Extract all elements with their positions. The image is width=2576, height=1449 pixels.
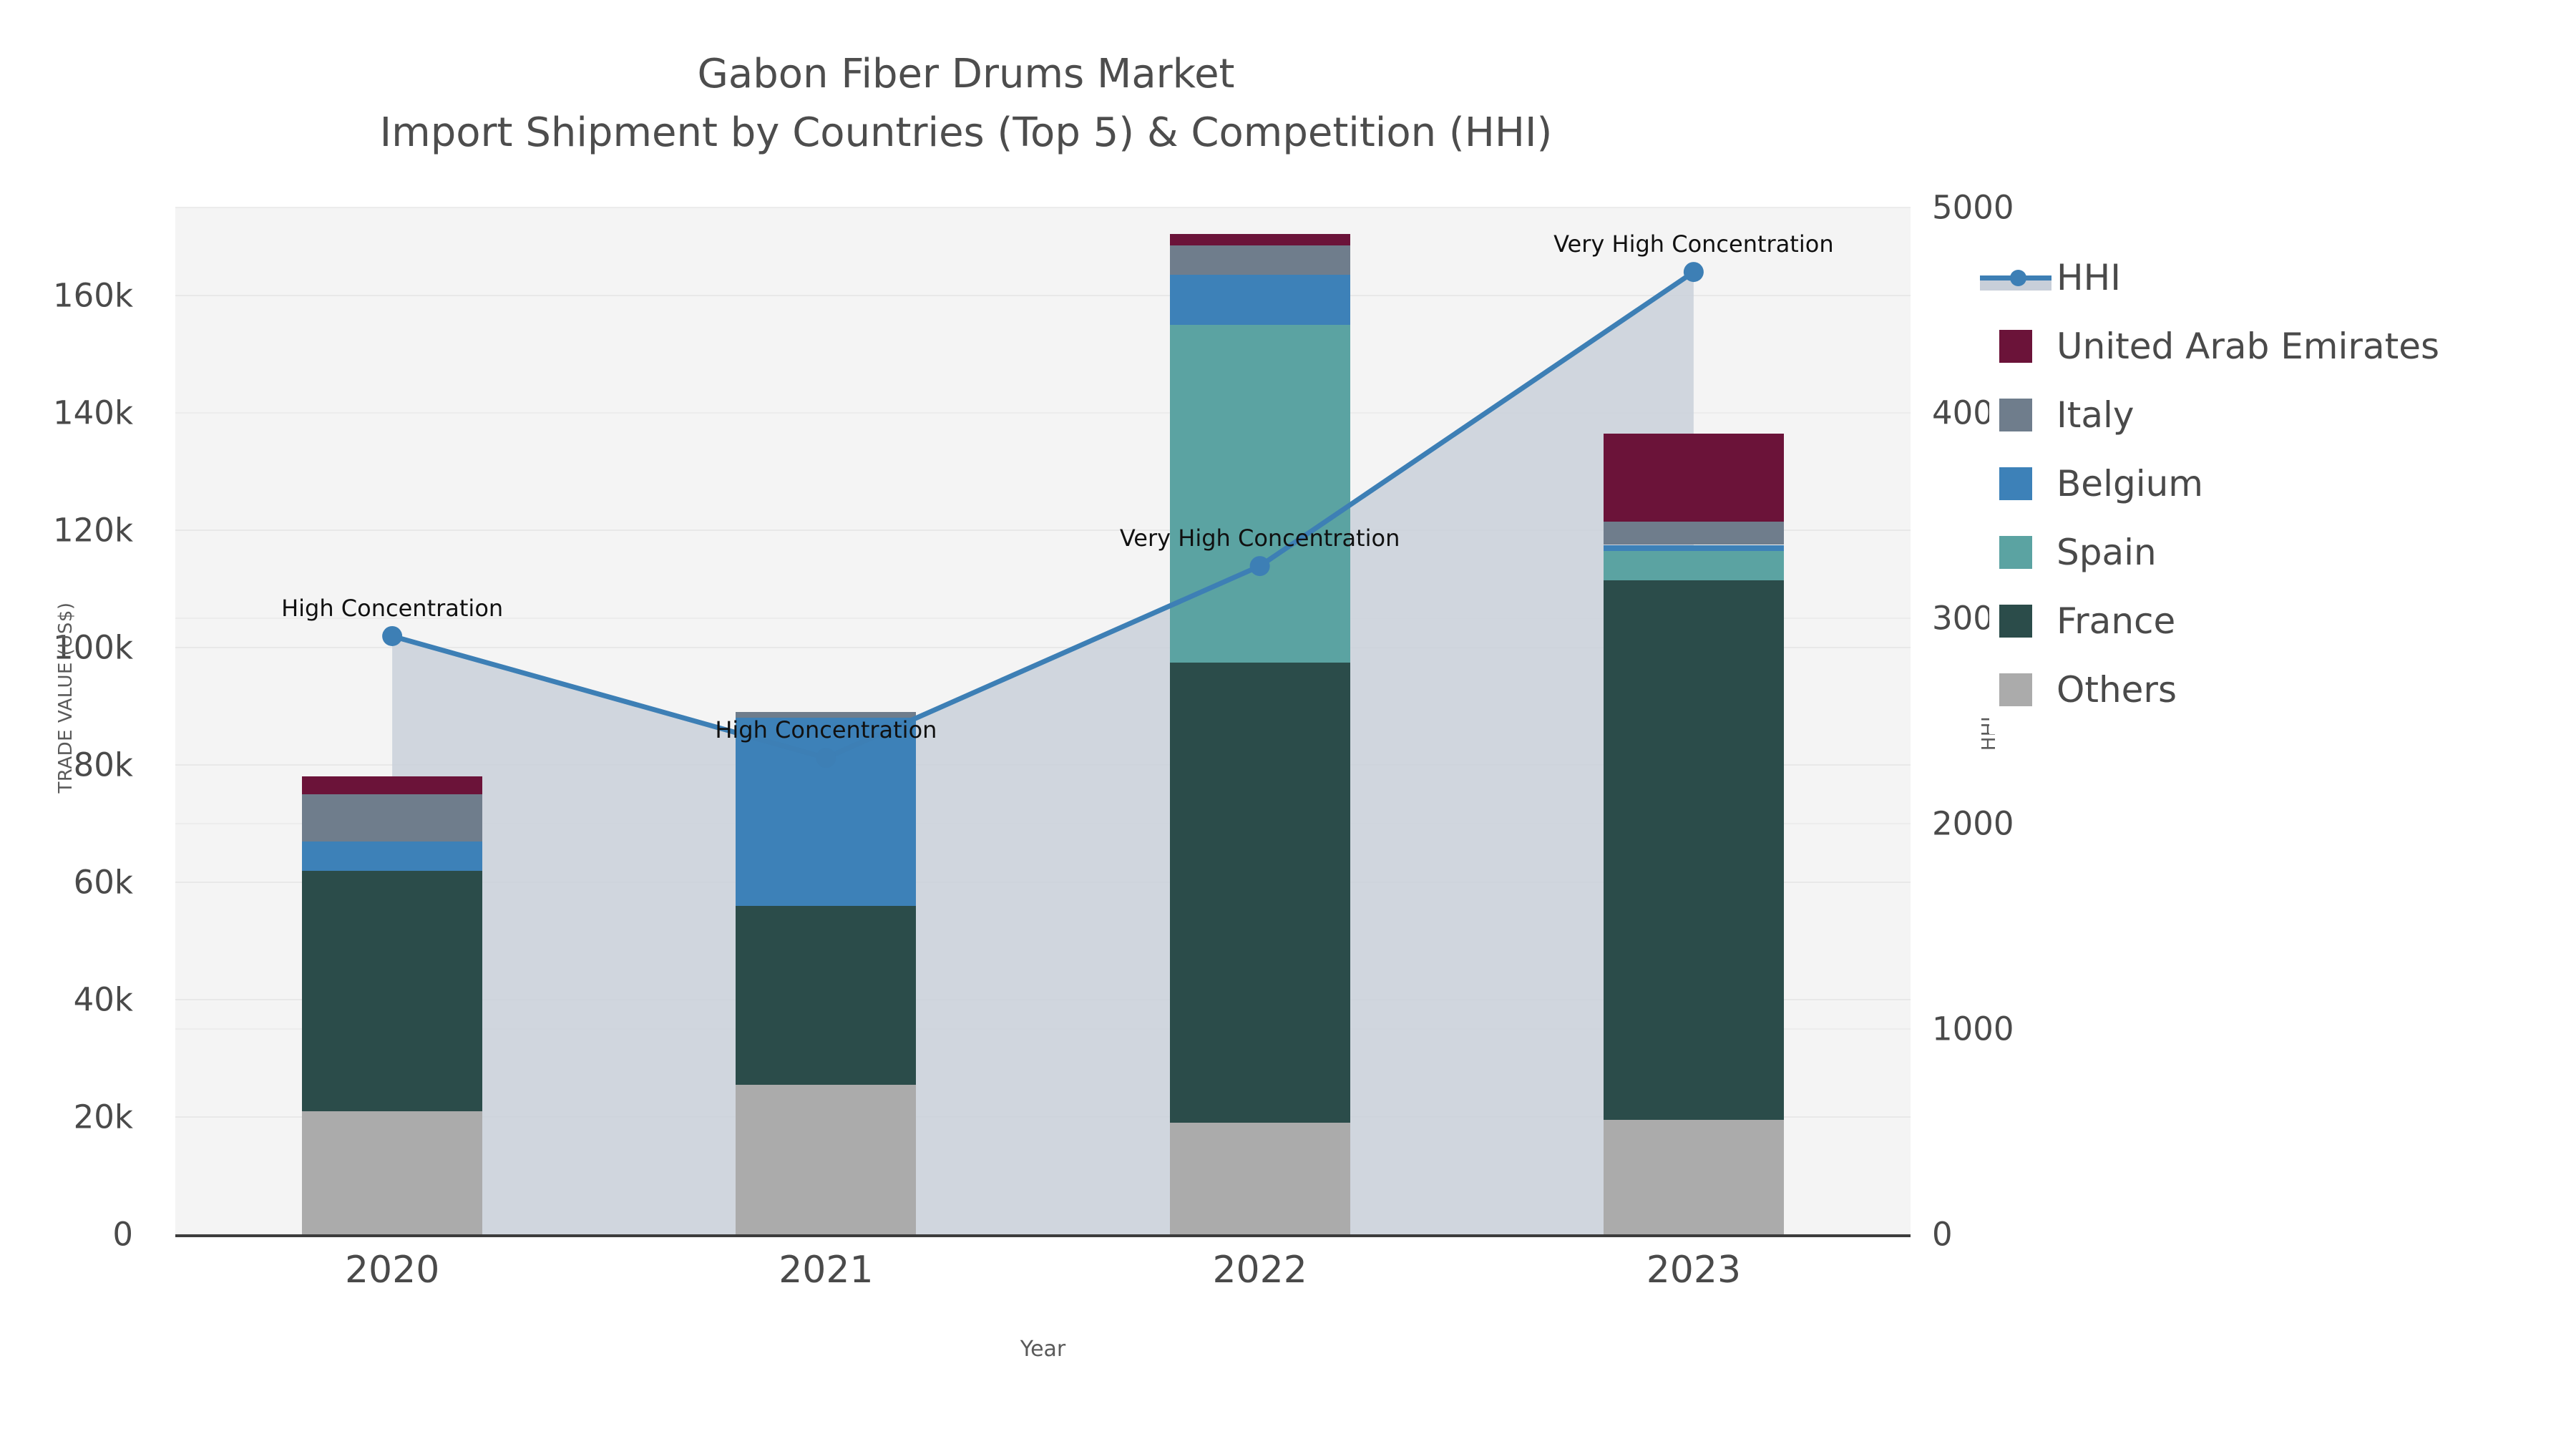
bar-segment[interactable]: [1170, 1123, 1350, 1234]
legend-swatch-icon: [1999, 536, 2032, 569]
legend-item-france[interactable]: France: [1999, 587, 2439, 655]
gridline-right: [175, 207, 1911, 208]
bar-segment[interactable]: [1170, 325, 1350, 663]
x-axis-line: [175, 1234, 1911, 1237]
bar-segment[interactable]: [736, 906, 916, 1085]
x-tick-label: 2021: [683, 1249, 969, 1292]
legend-swatch-icon: [1999, 399, 2032, 431]
y-tick-label-left: 60k: [74, 864, 133, 902]
legend-swatch-icon: [1999, 330, 2032, 363]
bar-segment[interactable]: [1604, 1120, 1784, 1234]
y-tick-label-left: 40k: [74, 981, 133, 1019]
concentration-annotation: Very High Concentration: [1120, 525, 1400, 552]
bar-segment[interactable]: [302, 841, 482, 871]
legend-item-label: Belgium: [2057, 463, 2203, 504]
chart-root: Gabon Fiber Drums Market Import Shipment…: [0, 0, 2576, 1449]
bar-segment[interactable]: [1604, 551, 1784, 580]
legend-item-italy[interactable]: Italy: [1999, 381, 2439, 449]
y-tick-label-right: 0: [1932, 1216, 1953, 1254]
legend-swatch-icon: [1999, 605, 2032, 638]
legend-item-belgium[interactable]: Belgium: [1999, 449, 2439, 518]
bar-segment[interactable]: [736, 718, 916, 905]
y-tick-label-right: 5000: [1932, 189, 2014, 227]
legend-item-united-arab-emirates[interactable]: United Arab Emirates: [1999, 312, 2439, 381]
y-tick-label-left: 160k: [53, 277, 133, 315]
legend: HHIUnited Arab EmiratesItalyBelgiumSpain…: [1989, 236, 2449, 734]
chart-title: Gabon Fiber Drums Market Import Shipment…: [0, 50, 1932, 158]
legend-item-label: Others: [2057, 669, 2177, 711]
legend-line-marker-icon: [1999, 261, 2032, 294]
concentration-annotation: High Concentration: [715, 716, 937, 743]
y-tick-label-left: 120k: [53, 512, 133, 550]
y-tick-label-left: 20k: [74, 1098, 133, 1136]
legend-item-label: France: [2057, 600, 2175, 642]
bar-segment[interactable]: [1170, 234, 1350, 245]
y-tick-label-left: 80k: [74, 746, 133, 784]
bar-segment[interactable]: [302, 1111, 482, 1234]
chart-title-line1: Gabon Fiber Drums Market: [698, 51, 1235, 97]
bar-segment[interactable]: [302, 794, 482, 841]
bar-segment[interactable]: [1604, 434, 1784, 522]
gridline-left: [175, 295, 1911, 296]
bar-segment[interactable]: [1170, 663, 1350, 1123]
legend-item-label: Spain: [2057, 532, 2157, 573]
x-axis-label: Year: [175, 1337, 1911, 1362]
legend-item-label: United Arab Emirates: [2057, 326, 2439, 367]
concentration-annotation: Very High Concentration: [1553, 230, 1833, 258]
y-tick-label-right: 1000: [1932, 1010, 2014, 1048]
bar-segment[interactable]: [1170, 245, 1350, 275]
legend-swatch-icon: [1999, 467, 2032, 500]
legend-swatch-icon: [1999, 673, 2032, 706]
legend-item-label: Italy: [2057, 394, 2134, 436]
bar-segment[interactable]: [302, 776, 482, 794]
x-tick-label: 2022: [1117, 1249, 1403, 1292]
gridline-right: [175, 412, 1911, 414]
concentration-annotation: High Concentration: [281, 595, 503, 622]
bar-segment[interactable]: [1604, 580, 1784, 1120]
x-tick-label: 2023: [1551, 1249, 1837, 1292]
y-tick-label-right: 2000: [1932, 805, 2014, 843]
bar-segment[interactable]: [1604, 522, 1784, 545]
y-axis-left-label: TRADE VALUE (US$): [55, 547, 77, 848]
bar-segment[interactable]: [736, 1085, 916, 1234]
legend-item-others[interactable]: Others: [1999, 655, 2439, 724]
bar-segment[interactable]: [1604, 545, 1784, 551]
chart-title-line2: Import Shipment by Countries (Top 5) & C…: [0, 109, 1932, 157]
y-tick-label-left: 0: [112, 1216, 133, 1254]
bar-segment[interactable]: [302, 871, 482, 1111]
legend-item-spain[interactable]: Spain: [1999, 518, 2439, 587]
y-tick-label-left: 140k: [53, 394, 133, 432]
x-tick-label: 2020: [249, 1249, 535, 1292]
legend-item-hhi[interactable]: HHI: [1999, 243, 2439, 312]
legend-item-label: HHI: [2057, 257, 2121, 298]
bar-segment[interactable]: [1170, 275, 1350, 325]
